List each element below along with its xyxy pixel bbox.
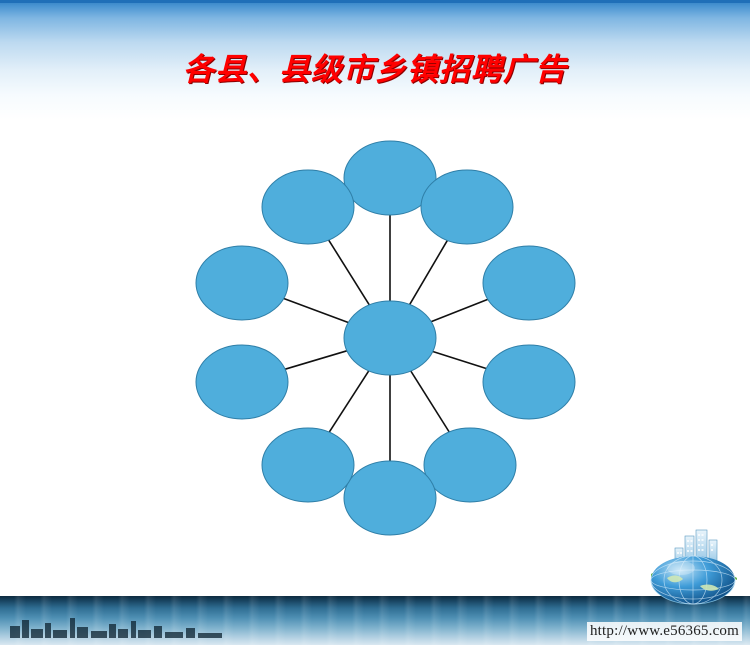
slide-canvas: 各县、县级市乡镇招聘广告 bbox=[0, 0, 750, 645]
connector-line bbox=[410, 240, 448, 304]
connector-line bbox=[285, 351, 347, 369]
connector-line bbox=[329, 371, 369, 432]
radial-diagram bbox=[160, 120, 620, 550]
watermark-url: http://www.e56365.com bbox=[587, 622, 742, 641]
diagram-node-7-shape[interactable] bbox=[262, 428, 354, 502]
diagram-node-4-shape[interactable] bbox=[483, 345, 575, 419]
diagram-node-9[interactable] bbox=[196, 246, 288, 320]
connector-line bbox=[411, 371, 449, 432]
header-top-rule bbox=[0, 0, 750, 3]
diagram-node-8-shape[interactable] bbox=[196, 345, 288, 419]
diagram-node-4[interactable] bbox=[483, 345, 575, 419]
page-title: 各县、县级市乡镇招聘广告 bbox=[0, 44, 750, 89]
connector-line bbox=[284, 299, 348, 323]
diagram-node-6[interactable] bbox=[344, 461, 436, 535]
connector-line bbox=[433, 352, 486, 369]
diagram-hub-node-shape[interactable] bbox=[344, 301, 436, 375]
diagram-hub-node[interactable] bbox=[344, 301, 436, 375]
diagram-node-8[interactable] bbox=[196, 345, 288, 419]
diagram-node-10[interactable] bbox=[262, 170, 354, 244]
diagram-node-9-shape[interactable] bbox=[196, 246, 288, 320]
diagram-node-7[interactable] bbox=[262, 428, 354, 502]
diagram-node-3-shape[interactable] bbox=[483, 246, 575, 320]
connector-line bbox=[329, 240, 370, 305]
globe-buildings-logo bbox=[645, 528, 741, 606]
diagram-node-10-shape[interactable] bbox=[262, 170, 354, 244]
diagram-nodes bbox=[196, 141, 575, 535]
city-skyline-silhouette bbox=[8, 612, 228, 638]
diagram-node-6-shape[interactable] bbox=[344, 461, 436, 535]
diagram-node-3[interactable] bbox=[483, 246, 575, 320]
connector-line bbox=[431, 299, 487, 321]
diagram-node-2[interactable] bbox=[421, 170, 513, 244]
diagram-node-2-shape[interactable] bbox=[421, 170, 513, 244]
diagram-node-5[interactable] bbox=[424, 428, 516, 502]
diagram-node-5-shape[interactable] bbox=[424, 428, 516, 502]
